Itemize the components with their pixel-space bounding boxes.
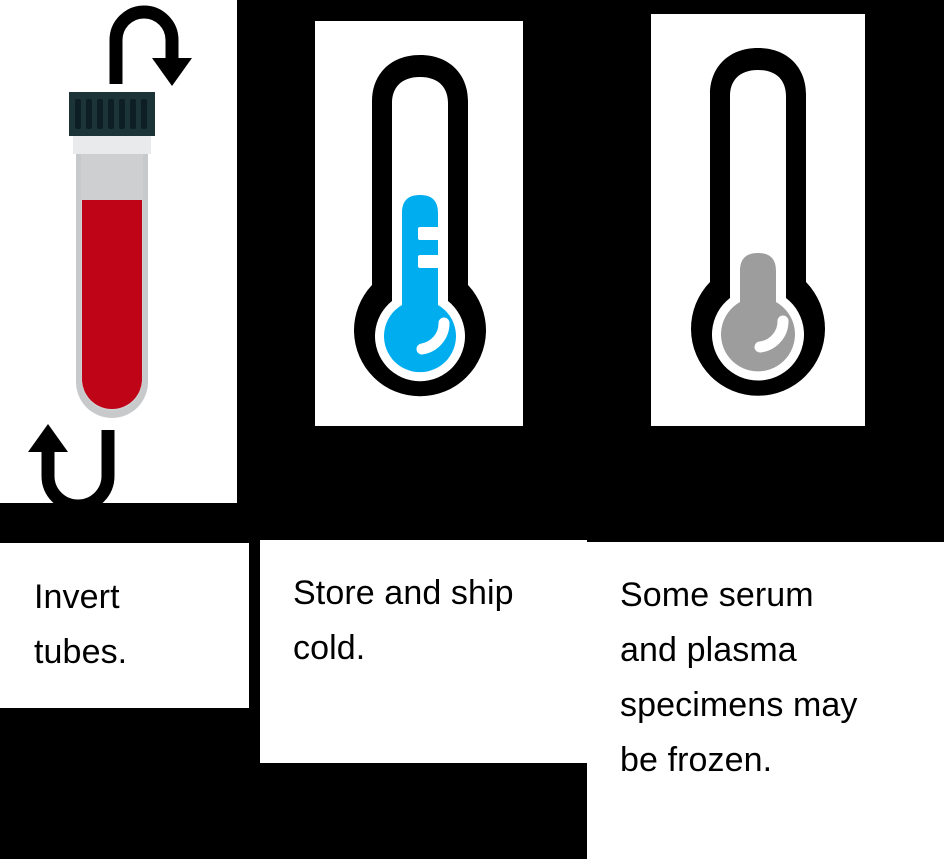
tube-neck-icon	[73, 136, 151, 154]
thermometer-frozen-icon	[675, 40, 841, 400]
arrow-head-up-icon	[28, 424, 68, 452]
arrow-head-down-icon	[152, 58, 192, 86]
tube-blood-fill-icon	[82, 200, 142, 409]
diagram-canvas: Invert tubes. Store and ship cold. Some …	[0, 0, 944, 859]
caption-store-and-ship-cold: Store and ship cold.	[293, 566, 578, 676]
caption-invert-tubes: Invert tubes.	[34, 570, 234, 680]
blood-collection-tube-icon	[0, 0, 237, 503]
thermometer-cold-icon	[340, 47, 500, 402]
caption-specimens-may-be-frozen: Some serum and plasma specimens may be f…	[620, 568, 935, 788]
